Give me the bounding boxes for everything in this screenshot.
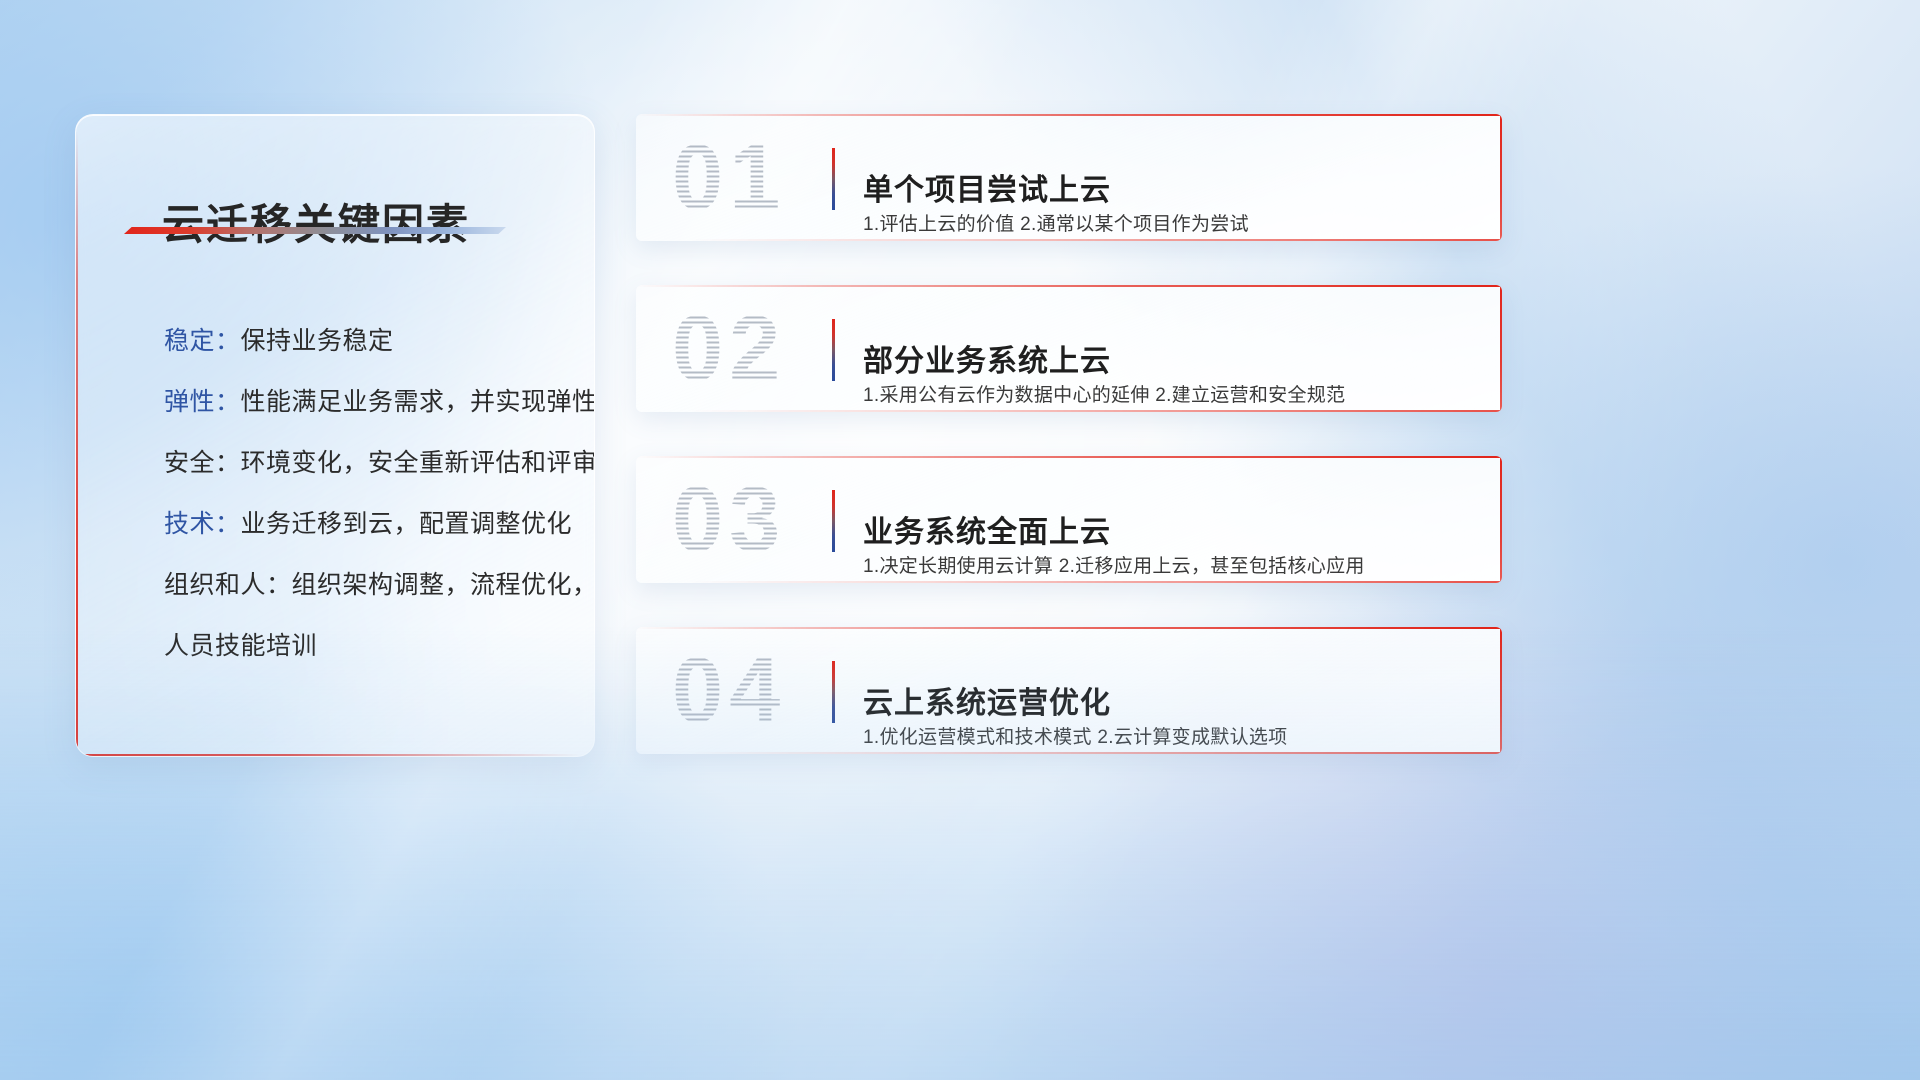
key-factor-text: 组织架构调整，流程优化，: [292, 571, 595, 599]
card-bottom-accent-border: [688, 581, 1502, 583]
step-description: 1.采用公有云作为数据中心的延伸 2.建立运营和安全规范: [863, 380, 1345, 407]
page-title: 云迁移关键因素: [162, 191, 470, 252]
key-factors-list: 稳定：保持业务稳定弹性：性能满足业务需求，并实现弹性安全：环境变化，安全重新评估…: [164, 311, 564, 677]
key-factor-item: 技术：业务迁移到云，配置调整优化: [164, 494, 564, 555]
key-factor-text: 业务迁移到云，配置调整优化: [241, 510, 573, 538]
card-right-accent-border: [1500, 456, 1502, 583]
card-top-accent-border: [636, 627, 1502, 629]
key-factor-item: 稳定：保持业务稳定: [164, 311, 564, 372]
migration-step-card[interactable]: 04云上系统运营优化1.优化运营模式和技术模式 2.云计算变成默认选项: [636, 627, 1502, 754]
card-right-accent-border: [1500, 114, 1502, 241]
step-number-watermark: 01: [672, 125, 786, 230]
step-divider-bar: [832, 319, 835, 381]
card-bottom-accent-border: [688, 410, 1502, 412]
key-factor-text: 保持业务稳定: [241, 327, 394, 355]
panel-bottom-accent-edge: [78, 754, 580, 756]
key-factor-label: 稳定：: [164, 327, 241, 355]
key-factor-item: 组织和人：组织架构调整，流程优化，: [164, 555, 564, 616]
key-factor-label: 安全：: [164, 449, 241, 477]
key-factor-item: 弹性：性能满足业务需求，并实现弹性: [164, 372, 564, 433]
card-right-accent-border: [1500, 627, 1502, 754]
step-title: 云上系统运营优化: [863, 678, 1111, 722]
title-gradient-rule: [124, 227, 506, 234]
step-number-watermark: 02: [672, 296, 786, 401]
step-title: 业务系统全面上云: [863, 507, 1111, 551]
card-right-accent-border: [1500, 285, 1502, 412]
card-top-accent-border: [636, 285, 1502, 287]
step-divider-bar: [832, 490, 835, 552]
step-divider-bar: [832, 148, 835, 210]
key-factor-item: 人员技能培训: [164, 616, 564, 677]
step-number-watermark: 04: [672, 638, 786, 743]
key-factor-label: 技术：: [164, 510, 241, 538]
step-description: 1.优化运营模式和技术模式 2.云计算变成默认选项: [863, 722, 1287, 749]
slide-canvas: 云迁移关键因素 稳定：保持业务稳定弹性：性能满足业务需求，并实现弹性安全：环境变…: [0, 0, 1920, 1080]
migration-step-card[interactable]: 01单个项目尝试上云1.评估上云的价值 2.通常以某个项目作为尝试: [636, 114, 1502, 241]
step-divider-bar: [832, 661, 835, 723]
step-title: 部分业务系统上云: [863, 336, 1111, 380]
key-factor-item: 安全：环境变化，安全重新评估和评审: [164, 433, 564, 494]
key-factor-text: 性能满足业务需求，并实现弹性: [241, 388, 595, 416]
migration-step-card[interactable]: 02部分业务系统上云1.采用公有云作为数据中心的延伸 2.建立运营和安全规范: [636, 285, 1502, 412]
panel-left-accent-edge: [76, 131, 78, 754]
card-top-accent-border: [636, 114, 1502, 116]
step-description: 1.评估上云的价值 2.通常以某个项目作为尝试: [863, 209, 1249, 236]
migration-step-card[interactable]: 03业务系统全面上云1.决定长期使用云计算 2.迁移应用上云，甚至包括核心应用: [636, 456, 1502, 583]
key-factor-text: 环境变化，安全重新评估和评审: [241, 449, 595, 477]
card-bottom-accent-border: [688, 752, 1502, 754]
step-title: 单个项目尝试上云: [863, 165, 1111, 209]
key-factors-panel: 云迁移关键因素 稳定：保持业务稳定弹性：性能满足业务需求，并实现弹性安全：环境变…: [75, 114, 595, 757]
step-number-watermark: 03: [672, 467, 786, 572]
key-factor-label: 组织和人：: [164, 571, 292, 599]
key-factor-label: 弹性：: [164, 388, 241, 416]
card-top-accent-border: [636, 456, 1502, 458]
key-factor-text: 人员技能培训: [164, 632, 317, 660]
card-bottom-accent-border: [688, 239, 1502, 241]
step-description: 1.决定长期使用云计算 2.迁移应用上云，甚至包括核心应用: [863, 551, 1365, 578]
